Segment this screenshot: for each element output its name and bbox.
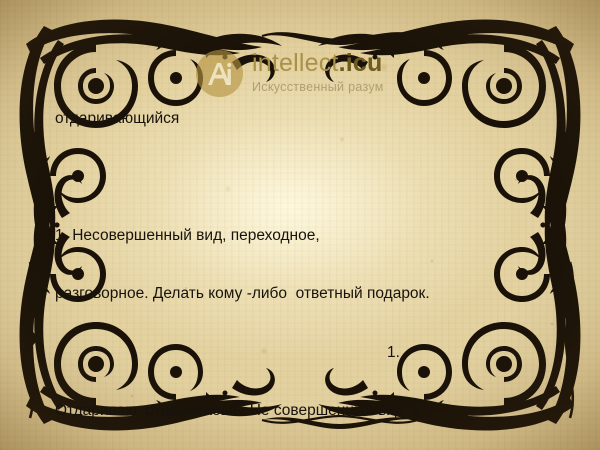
paragraph-spacer-1: [55, 168, 555, 187]
definition-line-1: 1. Несовершенный вид, переходное,: [55, 226, 555, 246]
parchment-page: intellect.icu Искусственный разум отдари…: [0, 0, 600, 450]
headword: отдаривающийся: [55, 109, 555, 129]
conjugation-line-1: Отдариваю, отдариваешь. Не совершенный в…: [55, 401, 555, 421]
sense-marker: 1.: [55, 343, 555, 363]
definition-line-2: разговорное. Делать кому -либо ответный …: [55, 284, 555, 304]
dictionary-article: отдаривающийся 1. Несовершенный вид, пер…: [55, 70, 555, 450]
